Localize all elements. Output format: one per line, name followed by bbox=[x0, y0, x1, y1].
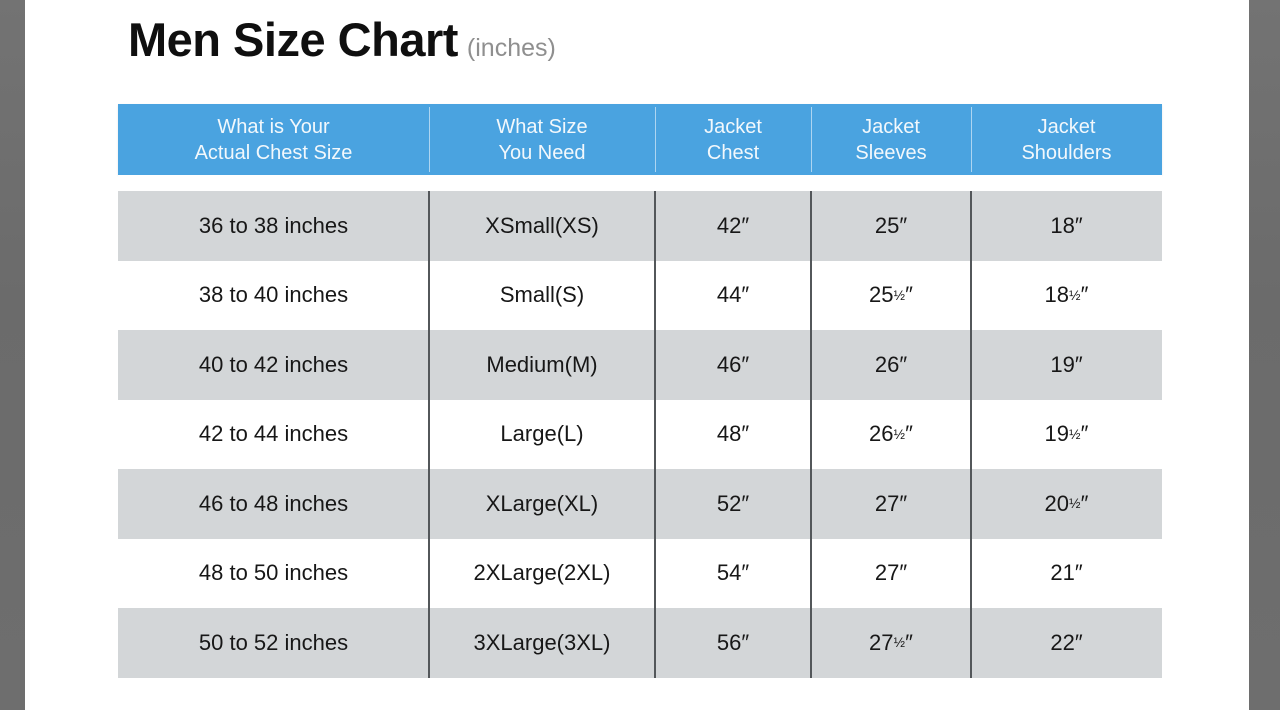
table-body: 36 to 38 inchesXSmall(XS)42″25″18″38 to … bbox=[118, 191, 1162, 678]
cell-size: Large(L) bbox=[429, 400, 655, 470]
cell-jacket-shoulders: 18″ bbox=[971, 191, 1162, 261]
letterbox-band-left bbox=[0, 0, 25, 710]
cell-jacket-sleeves: 27″ bbox=[811, 469, 971, 539]
cell-chest-range: 40 to 42 inches bbox=[118, 330, 429, 400]
table-row: 48 to 50 inches2XLarge(2XL)54″27″21″ bbox=[118, 539, 1162, 609]
cell-jacket-chest: 42″ bbox=[655, 191, 811, 261]
column-header-line2: Chest bbox=[707, 140, 759, 166]
column-header-line2: Sleeves bbox=[855, 140, 926, 166]
column-header-line1: Jacket bbox=[862, 114, 920, 140]
cell-jacket-sleeves: 27½″ bbox=[811, 608, 971, 678]
cell-jacket-shoulders: 18½″ bbox=[971, 261, 1162, 331]
column-header-line2: Actual Chest Size bbox=[195, 140, 353, 166]
cell-jacket-shoulders: 19½″ bbox=[971, 400, 1162, 470]
cell-size: Small(S) bbox=[429, 261, 655, 331]
cell-size: 2XLarge(2XL) bbox=[429, 539, 655, 609]
table-row: 40 to 42 inchesMedium(M)46″26″19″ bbox=[118, 330, 1162, 400]
cell-jacket-sleeves: 25″ bbox=[811, 191, 971, 261]
cell-jacket-chest: 54″ bbox=[655, 539, 811, 609]
table-header-row: What is Your Actual Chest Size What Size… bbox=[118, 104, 1162, 175]
column-header-jacket-sleeves: Jacket Sleeves bbox=[811, 104, 971, 175]
page-title-main: Men Size Chart bbox=[128, 16, 458, 63]
cell-size: Medium(M) bbox=[429, 330, 655, 400]
cell-chest-range: 38 to 40 inches bbox=[118, 261, 429, 331]
column-header-actual-chest-size: What is Your Actual Chest Size bbox=[118, 104, 429, 175]
cell-jacket-chest: 48″ bbox=[655, 400, 811, 470]
size-chart-table: What is Your Actual Chest Size What Size… bbox=[118, 104, 1162, 678]
cell-chest-range: 42 to 44 inches bbox=[118, 400, 429, 470]
cell-jacket-sleeves: 25½″ bbox=[811, 261, 971, 331]
cell-chest-range: 50 to 52 inches bbox=[118, 608, 429, 678]
page-title-unit: (inches) bbox=[467, 36, 556, 61]
cell-jacket-chest: 52″ bbox=[655, 469, 811, 539]
cell-jacket-chest: 44″ bbox=[655, 261, 811, 331]
size-chart-page: Men Size Chart (inches) What is Your Act… bbox=[25, 0, 1249, 710]
table-row: 46 to 48 inchesXLarge(XL)52″27″20½″ bbox=[118, 469, 1162, 539]
column-header-size-you-need: What Size You Need bbox=[429, 104, 655, 175]
column-header-jacket-shoulders: Jacket Shoulders bbox=[971, 104, 1162, 175]
cell-jacket-sleeves: 26½″ bbox=[811, 400, 971, 470]
column-header-line1: What Size bbox=[496, 114, 587, 140]
cell-chest-range: 48 to 50 inches bbox=[118, 539, 429, 609]
table-row: 42 to 44 inchesLarge(L)48″26½″19½″ bbox=[118, 400, 1162, 470]
page-title: Men Size Chart (inches) bbox=[128, 16, 556, 63]
cell-jacket-chest: 56″ bbox=[655, 608, 811, 678]
cell-chest-range: 36 to 38 inches bbox=[118, 191, 429, 261]
cell-jacket-sleeves: 26″ bbox=[811, 330, 971, 400]
cell-size: XLarge(XL) bbox=[429, 469, 655, 539]
column-header-line1: What is Your bbox=[217, 114, 329, 140]
column-header-line2: Shoulders bbox=[1021, 140, 1111, 166]
column-header-line2: You Need bbox=[498, 140, 585, 166]
header-body-gap bbox=[118, 175, 1162, 191]
column-header-line1: Jacket bbox=[704, 114, 762, 140]
table-row: 38 to 40 inchesSmall(S)44″25½″18½″ bbox=[118, 261, 1162, 331]
table-row: 50 to 52 inches3XLarge(3XL)56″27½″22″ bbox=[118, 608, 1162, 678]
cell-jacket-shoulders: 21″ bbox=[971, 539, 1162, 609]
cell-jacket-shoulders: 20½″ bbox=[971, 469, 1162, 539]
cell-size: 3XLarge(3XL) bbox=[429, 608, 655, 678]
cell-jacket-chest: 46″ bbox=[655, 330, 811, 400]
cell-chest-range: 46 to 48 inches bbox=[118, 469, 429, 539]
cell-jacket-sleeves: 27″ bbox=[811, 539, 971, 609]
cell-jacket-shoulders: 22″ bbox=[971, 608, 1162, 678]
cell-jacket-shoulders: 19″ bbox=[971, 330, 1162, 400]
letterbox-band-right bbox=[1249, 0, 1280, 710]
column-header-jacket-chest: Jacket Chest bbox=[655, 104, 811, 175]
column-header-line1: Jacket bbox=[1038, 114, 1096, 140]
screenshot-stage: Men Size Chart (inches) What is Your Act… bbox=[0, 0, 1280, 710]
table-row: 36 to 38 inchesXSmall(XS)42″25″18″ bbox=[118, 191, 1162, 261]
cell-size: XSmall(XS) bbox=[429, 191, 655, 261]
